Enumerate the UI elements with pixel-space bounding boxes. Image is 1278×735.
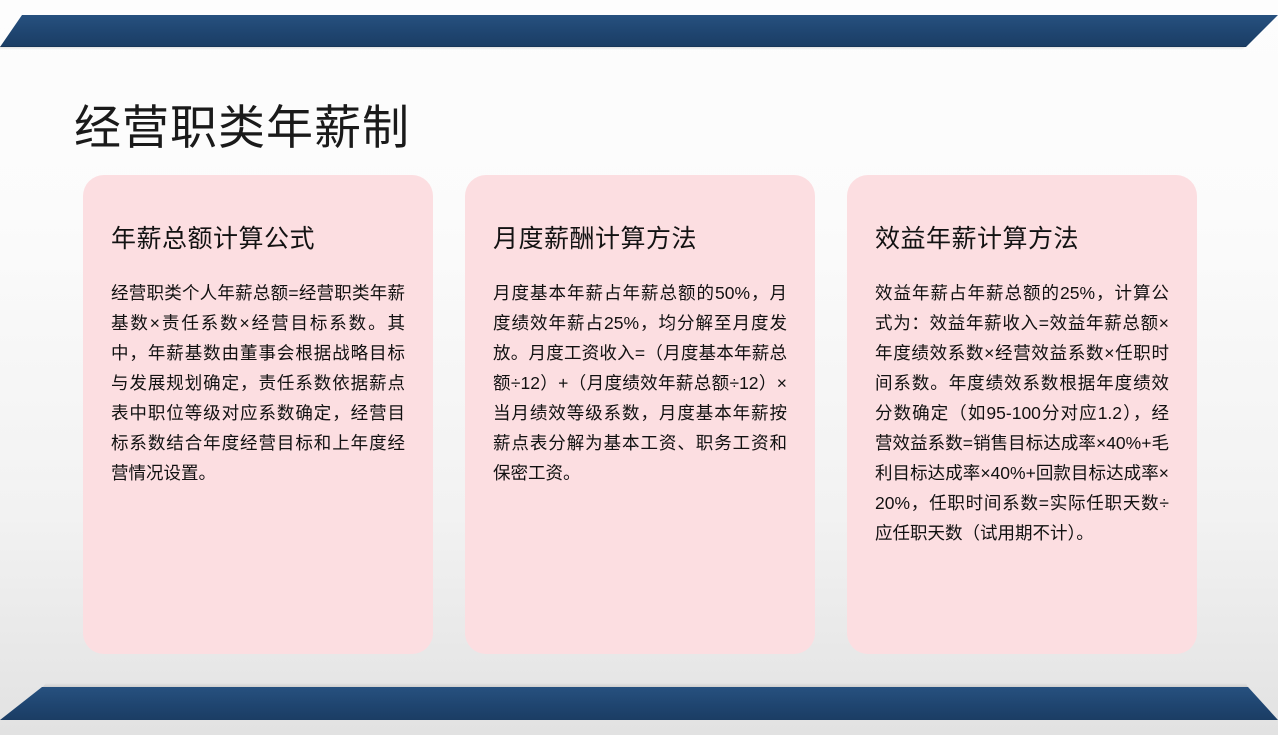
card-heading: 年薪总额计算公式 bbox=[111, 223, 405, 256]
card-body-text: 月度基本年薪占年薪总额的50%，月度绩效年薪占25%，均分解至月度发放。月度工资… bbox=[493, 278, 787, 489]
card-annual-salary-formula[interactable]: 年薪总额计算公式 经营职类个人年薪总额=经营职类年薪基数×责任系数×经营目标系数… bbox=[83, 175, 433, 654]
card-body-text: 经营职类个人年薪总额=经营职类年薪基数×责任系数×经营目标系数。其中，年薪基数由… bbox=[111, 278, 405, 489]
card-heading: 月度薪酬计算方法 bbox=[493, 223, 787, 256]
card-body-text: 效益年薪占年薪总额的25%，计算公式为：效益年薪收入=效益年薪总额×年度绩效系数… bbox=[875, 278, 1169, 549]
top-banner-shadow bbox=[0, 46, 1278, 50]
slide-canvas: 经营职类年薪制 年薪总额计算公式 经营职类个人年薪总额=经营职类年薪基数×责任系… bbox=[0, 0, 1278, 735]
card-monthly-pay-method[interactable]: 月度薪酬计算方法 月度基本年薪占年薪总额的50%，月度绩效年薪占25%，均分解至… bbox=[465, 175, 815, 654]
card-group: 年薪总额计算公式 经营职类个人年薪总额=经营职类年薪基数×责任系数×经营目标系数… bbox=[83, 175, 1197, 654]
page-title: 经营职类年薪制 bbox=[74, 99, 410, 158]
card-heading: 效益年薪计算方法 bbox=[875, 223, 1169, 256]
top-banner-decoration bbox=[0, 15, 1278, 47]
card-benefit-salary-method[interactable]: 效益年薪计算方法 效益年薪占年薪总额的25%，计算公式为：效益年薪收入=效益年薪… bbox=[847, 175, 1197, 654]
bottom-banner-decoration bbox=[0, 687, 1278, 720]
